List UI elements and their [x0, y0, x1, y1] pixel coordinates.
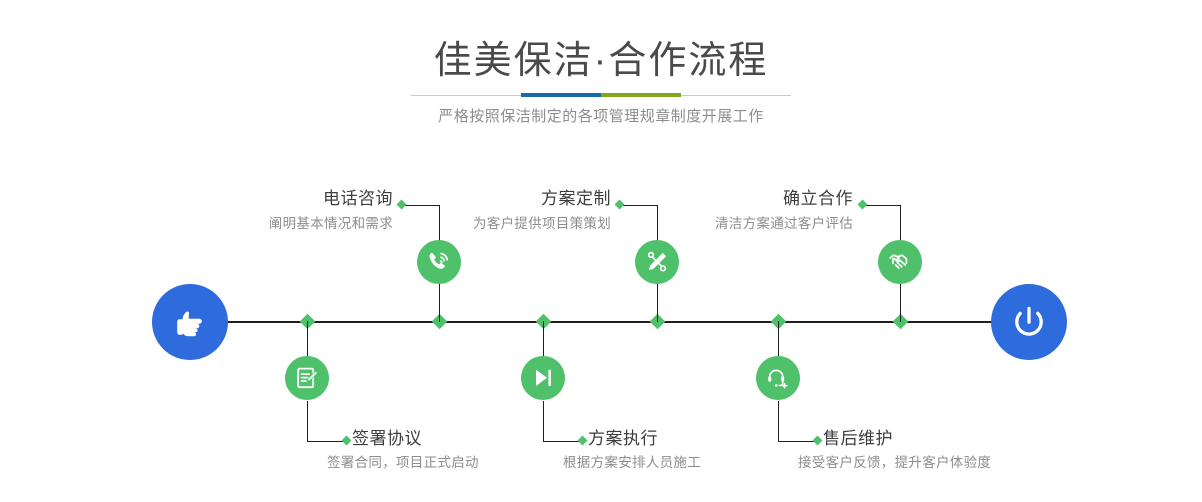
step-description: 接受客户反馈，提升客户体验度	[798, 453, 991, 473]
flow-start-node	[152, 284, 228, 360]
label-anchor-marker	[813, 436, 823, 446]
play-execute-icon	[530, 365, 556, 391]
connector-line-horizontal	[865, 205, 901, 206]
connector-line-vertical	[307, 321, 308, 357]
connector-line-horizontal	[307, 441, 345, 442]
connector-line-horizontal	[543, 441, 581, 442]
power-button-icon	[1007, 300, 1051, 344]
connector-line-vertical	[778, 401, 779, 441]
label-anchor-marker	[578, 436, 588, 446]
connector-line-vertical	[307, 401, 308, 441]
connector-line-horizontal	[778, 441, 816, 442]
step-title: 方案执行	[588, 428, 658, 450]
step-description: 根据方案安排人员施工	[563, 453, 701, 473]
headset-support-icon	[765, 365, 791, 391]
page-title: 佳美保洁·合作流程	[0, 38, 1202, 84]
header-divider-green-segment	[601, 93, 681, 97]
step-node-plan-execution	[521, 356, 565, 400]
step-node-sign-agreement	[285, 356, 329, 400]
step-title: 售后维护	[823, 428, 893, 450]
process-flow-infographic: 佳美保洁·合作流程 严格按照保洁制定的各项管理规章制度开展工作	[0, 0, 1202, 502]
phone-call-icon	[426, 249, 452, 275]
connector-line-vertical	[657, 284, 658, 322]
pencil-design-icon	[644, 249, 670, 275]
connector-line-vertical	[543, 401, 544, 441]
step-node-establish-cooperation	[878, 240, 922, 284]
handshake-icon	[887, 249, 913, 275]
step-description: 签署合同，项目正式启动	[327, 453, 479, 473]
label-anchor-marker	[342, 436, 352, 446]
connector-line-vertical	[543, 321, 544, 357]
page-subtitle: 严格按照保洁制定的各项管理规章制度开展工作	[0, 106, 1202, 128]
step-node-after-sales-support	[756, 356, 800, 400]
connector-line-vertical	[439, 284, 440, 322]
step-node-plan-customization	[635, 240, 679, 284]
step-node-phone-consultation	[417, 240, 461, 284]
connector-line-vertical	[778, 321, 779, 357]
connector-line-vertical	[900, 205, 901, 241]
step-description: 清洁方案通过客户评估	[575, 214, 853, 234]
document-sign-icon	[294, 365, 320, 391]
flow-end-node	[991, 284, 1067, 360]
header-divider-blue-segment	[521, 93, 601, 97]
pointing-hand-icon	[169, 301, 211, 343]
label-anchor-marker	[858, 200, 868, 210]
step-title: 签署协议	[352, 428, 422, 450]
step-title: 确立合作	[595, 188, 853, 210]
step-description: 为客户提供项目策策划	[333, 214, 611, 234]
connector-line-vertical	[900, 284, 901, 322]
step-title: 方案定制	[353, 188, 611, 210]
